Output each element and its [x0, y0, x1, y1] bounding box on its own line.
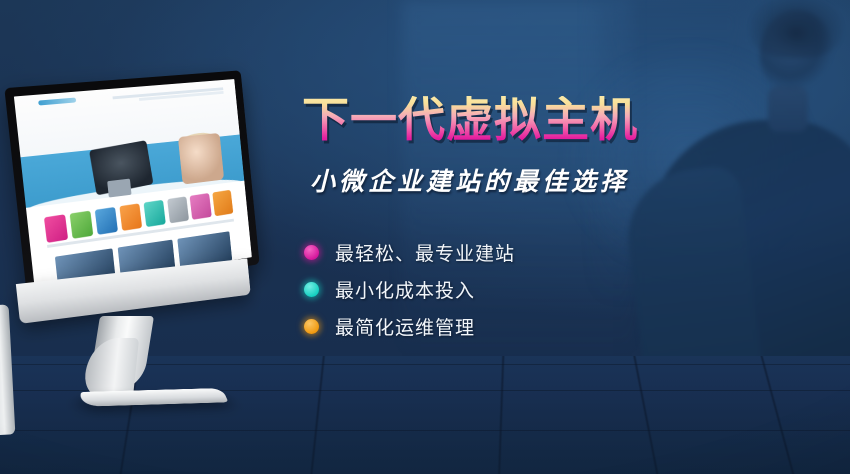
bullet-dot-icon — [304, 282, 319, 297]
person-hair — [750, 0, 842, 58]
feature-label: 最简化运维管理 — [335, 313, 475, 340]
monitor-stand-curve — [83, 338, 139, 398]
list-item: 最小化成本投入 — [304, 271, 772, 308]
monitor-screen — [14, 79, 252, 292]
desktop-monitor — [8, 88, 308, 408]
website-model-photo — [178, 133, 224, 185]
monitor-stand-base — [77, 388, 228, 407]
feature-label: 最轻松、最专业建站 — [335, 239, 515, 266]
page-title: 下一代虚拟主机 — [302, 96, 772, 145]
website-logo — [38, 97, 76, 106]
website-icon-7 — [190, 193, 212, 219]
website-icon-8 — [212, 190, 233, 216]
feature-label: 最小化成本投入 — [335, 276, 475, 303]
list-item: 最简化运维管理 — [304, 308, 772, 345]
website-product-base — [108, 178, 132, 198]
list-item: 最轻松、最专业建站 — [304, 234, 772, 271]
website-icon-5 — [143, 200, 165, 227]
website-icon-4 — [119, 204, 142, 231]
promo-copy-block: 下一代虚拟主机 小微企业建站的最佳选择 最轻松、最专业建站 最小化成本投入 最简… — [302, 96, 772, 345]
bullet-dot-icon — [304, 319, 319, 334]
bullet-dot-icon — [304, 245, 319, 260]
promo-banner: 下一代虚拟主机 小微企业建站的最佳选择 最轻松、最专业建站 最小化成本投入 最简… — [0, 0, 850, 474]
feature-list: 最轻松、最专业建站 最小化成本投入 最简化运维管理 — [304, 234, 772, 345]
website-icon-1 — [44, 214, 68, 242]
page-subtitle: 小微企业建站的最佳选择 — [310, 162, 772, 198]
website-icon-6 — [167, 197, 189, 224]
website-icon-3 — [94, 207, 117, 235]
website-icon-2 — [69, 211, 93, 239]
